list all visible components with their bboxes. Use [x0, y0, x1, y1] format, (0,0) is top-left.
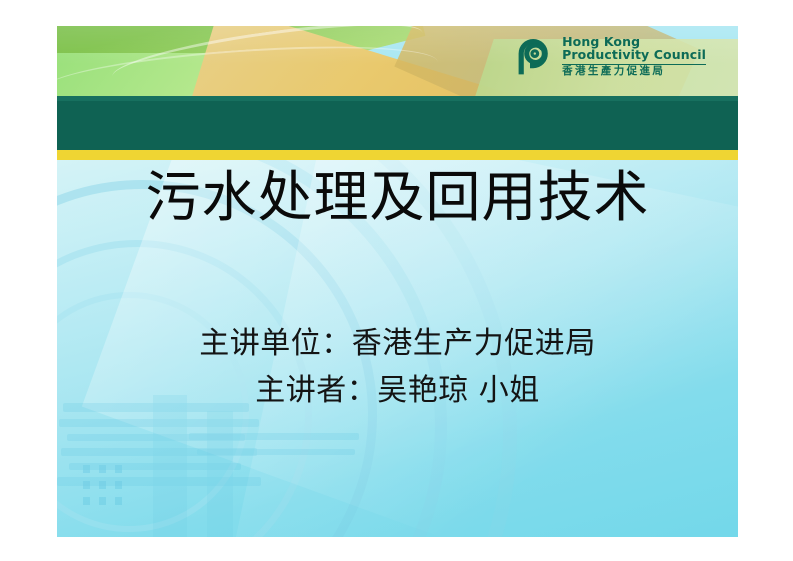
slide-title: 污水处理及回用技术: [57, 169, 738, 227]
hkpc-logo-line3-chinese: 香港生產力促進局: [562, 66, 706, 77]
hkpc-logo-line1: Hong Kong: [562, 35, 706, 48]
hkpc-logo: Hong Kong Productivity Council 香港生產力促進局: [514, 35, 706, 77]
hkpc-spiral-logo-icon: [514, 36, 554, 76]
slide-subtitle: 主讲单位：香港生产力促进局 主讲者：吴艳琼 小姐: [57, 321, 738, 414]
hkpc-logo-text: Hong Kong Productivity Council 香港生產力促進局: [562, 35, 706, 77]
hkpc-logo-line2: Productivity Council: [562, 48, 706, 61]
header-yellow-stripe: [57, 150, 738, 160]
subtitle-line-presenter: 主讲者：吴艳琼 小姐: [57, 368, 738, 415]
header-teal-band: [57, 96, 738, 150]
header-teal-band-highlight: [57, 96, 738, 101]
subtitle-line-organization: 主讲单位：香港生产力促进局: [57, 321, 738, 368]
presentation-slide: Hong Kong Productivity Council 香港生產力促進局: [57, 26, 738, 537]
header-abstract-artwork: Hong Kong Productivity Council 香港生產力促進局: [57, 26, 738, 96]
